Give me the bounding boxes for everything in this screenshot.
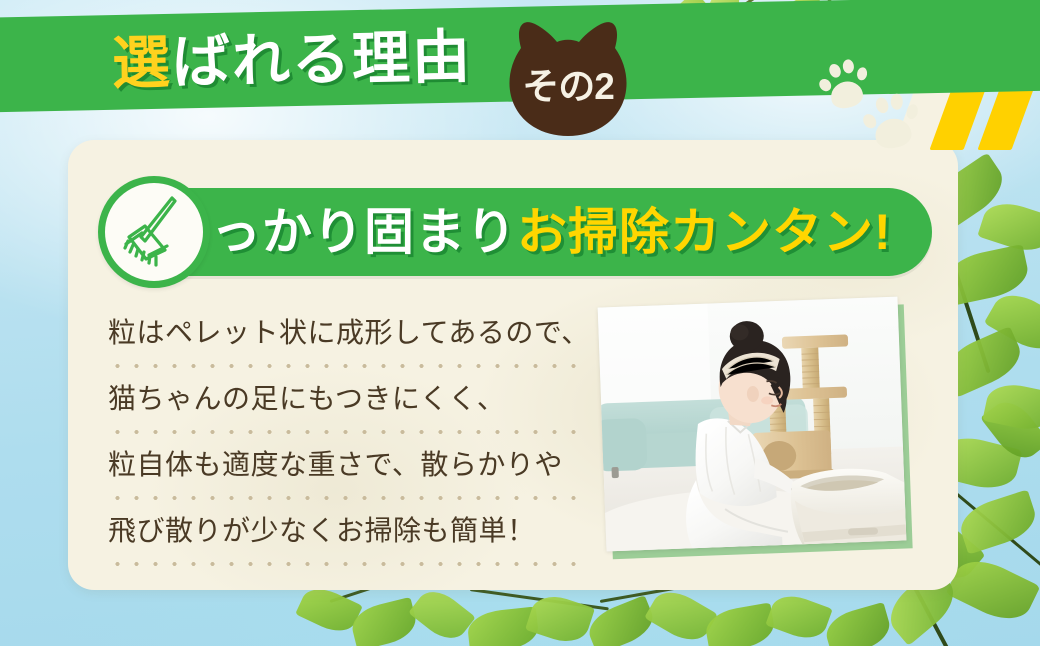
dotted-rule-1	[108, 363, 586, 369]
dotted-rule-4	[108, 561, 586, 567]
paw-print-2	[857, 87, 924, 154]
headline-text-yellow: お掃除カンタン!	[517, 207, 892, 257]
photo-image	[598, 297, 907, 552]
page-title-highlight: 選	[111, 30, 172, 96]
page-title: 選ばれる理由	[111, 29, 472, 94]
body-line-3: 粒自体も適度な重さで、散らかりや	[108, 444, 586, 488]
poster-stage: 選ばれる理由 その2 しっかり固まりお掃除カンタン!	[0, 0, 1040, 646]
cat-head-badge: その2	[497, 18, 639, 140]
body-line-4: 飛び散りが少なくお掃除も簡単！	[108, 510, 586, 554]
broom-icon	[98, 176, 210, 288]
page-title-rest: ばれる理由	[171, 25, 472, 96]
dotted-rule-2	[108, 429, 586, 435]
dotted-rule-3	[108, 495, 586, 501]
headline-text-white: しっかり固まり	[160, 207, 517, 257]
body-line-1: 粒はペレット状に成形してあるので、	[108, 312, 586, 356]
cat-badge-label: その2	[497, 68, 639, 105]
photo-frame	[598, 297, 907, 552]
headline-text: しっかり固まりお掃除カンタン!	[160, 196, 950, 268]
body-text-block: 粒はペレット状に成形してあるので、 猫ちゃんの足にもつきにくく、 粒自体も適度な…	[108, 312, 586, 576]
body-line-2: 猫ちゃんの足にもつきにくく、	[108, 378, 586, 422]
